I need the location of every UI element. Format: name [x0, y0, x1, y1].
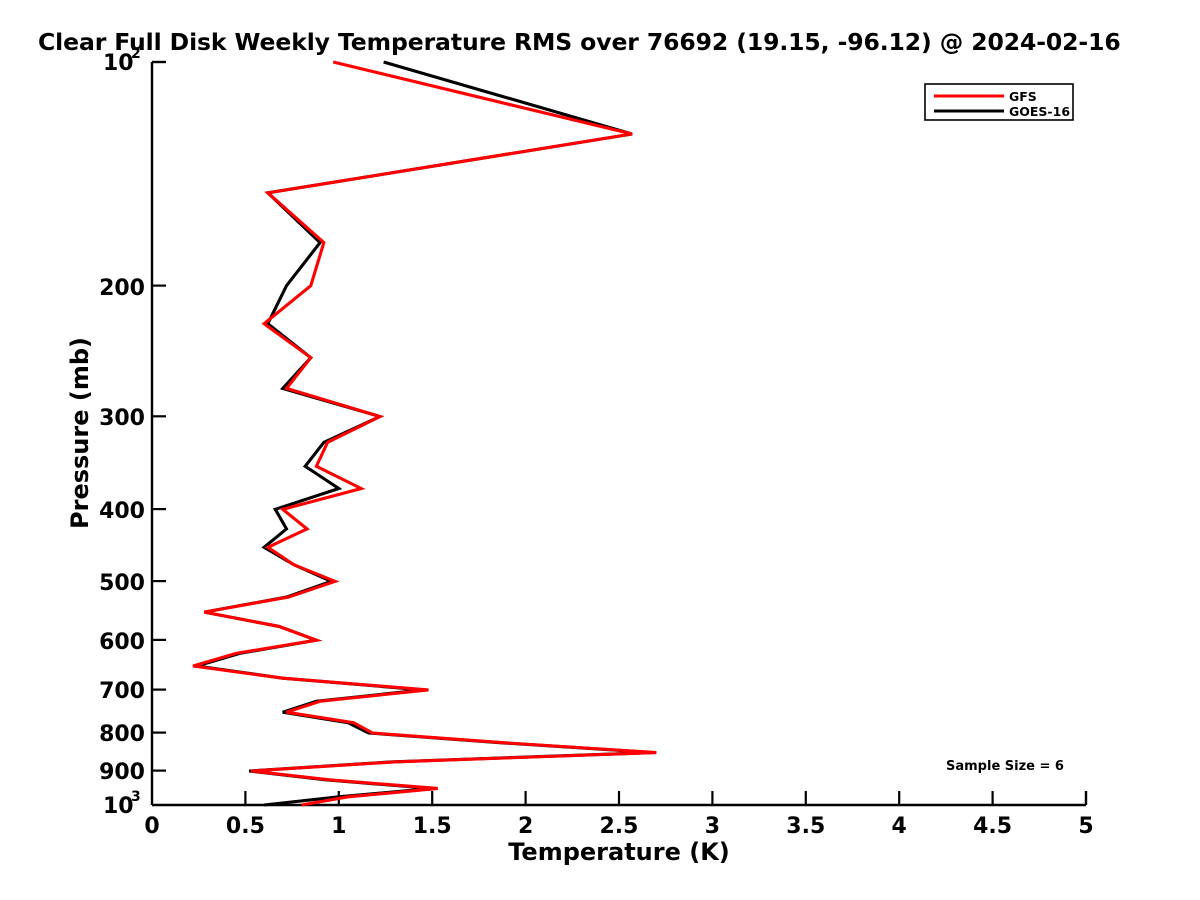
y-tick-label-200: 200 — [99, 276, 145, 301]
x-tick-label-5: 5 — [1078, 814, 1093, 839]
y-axis-ticks — [152, 286, 166, 771]
x-tick-label-4-5: 4.5 — [973, 814, 1012, 839]
y-tick-label-400: 400 — [99, 499, 145, 524]
x-axis-ticks — [245, 791, 992, 805]
data-series-group — [193, 62, 656, 805]
x-axis-title: Temperature (K) — [508, 838, 730, 866]
x-tick-label-3: 3 — [705, 814, 720, 839]
chart-figure: Clear Full Disk Weekly Temperature RMS o… — [0, 0, 1200, 900]
y-tick-label-100-exp: 2 — [131, 46, 141, 62]
y-tick-labels: 10 2 200 300 400 500 600 700 800 900 10 … — [99, 46, 145, 819]
x-tick-label-1-5: 1.5 — [413, 814, 452, 839]
axis-lines — [152, 62, 1086, 805]
series-line-goes-16 — [197, 62, 653, 805]
y-tick-label-800: 800 — [99, 722, 145, 747]
y-tick-label-300: 300 — [99, 406, 145, 431]
x-tick-labels: 0 0.5 1 1.5 2 2.5 3 3.5 4 4.5 5 — [144, 814, 1093, 839]
legend-label-gfs: GFS — [1009, 89, 1037, 104]
y-tick-label-100-base: 10 — [103, 51, 134, 76]
y-tick-label-700: 700 — [99, 679, 145, 704]
y-axis-title: Pressure (mb) — [66, 337, 94, 529]
temperature-rms-profile-chart: 10 2 200 300 400 500 600 700 800 900 10 … — [0, 0, 1200, 900]
x-tick-label-0-5: 0.5 — [226, 814, 265, 839]
y-tick-label-1000-exp: 3 — [131, 789, 141, 805]
x-tick-label-0: 0 — [144, 814, 159, 839]
legend-label-goes-16: GOES-16 — [1009, 104, 1070, 119]
sample-size-annotation: Sample Size = 6 — [946, 759, 1064, 774]
x-tick-label-1: 1 — [331, 814, 346, 839]
y-tick-label-1000-base: 10 — [103, 794, 134, 819]
y-tick-label-600: 600 — [99, 630, 145, 655]
x-tick-label-2-5: 2.5 — [600, 814, 639, 839]
chart-legend[interactable]: GFS GOES-16 — [925, 84, 1073, 120]
y-tick-label-900: 900 — [99, 760, 145, 785]
y-tick-label-500: 500 — [99, 571, 145, 596]
series-line-gfs — [193, 62, 656, 805]
x-tick-label-3-5: 3.5 — [786, 814, 825, 839]
x-tick-label-2: 2 — [518, 814, 533, 839]
x-tick-label-4: 4 — [892, 814, 907, 839]
